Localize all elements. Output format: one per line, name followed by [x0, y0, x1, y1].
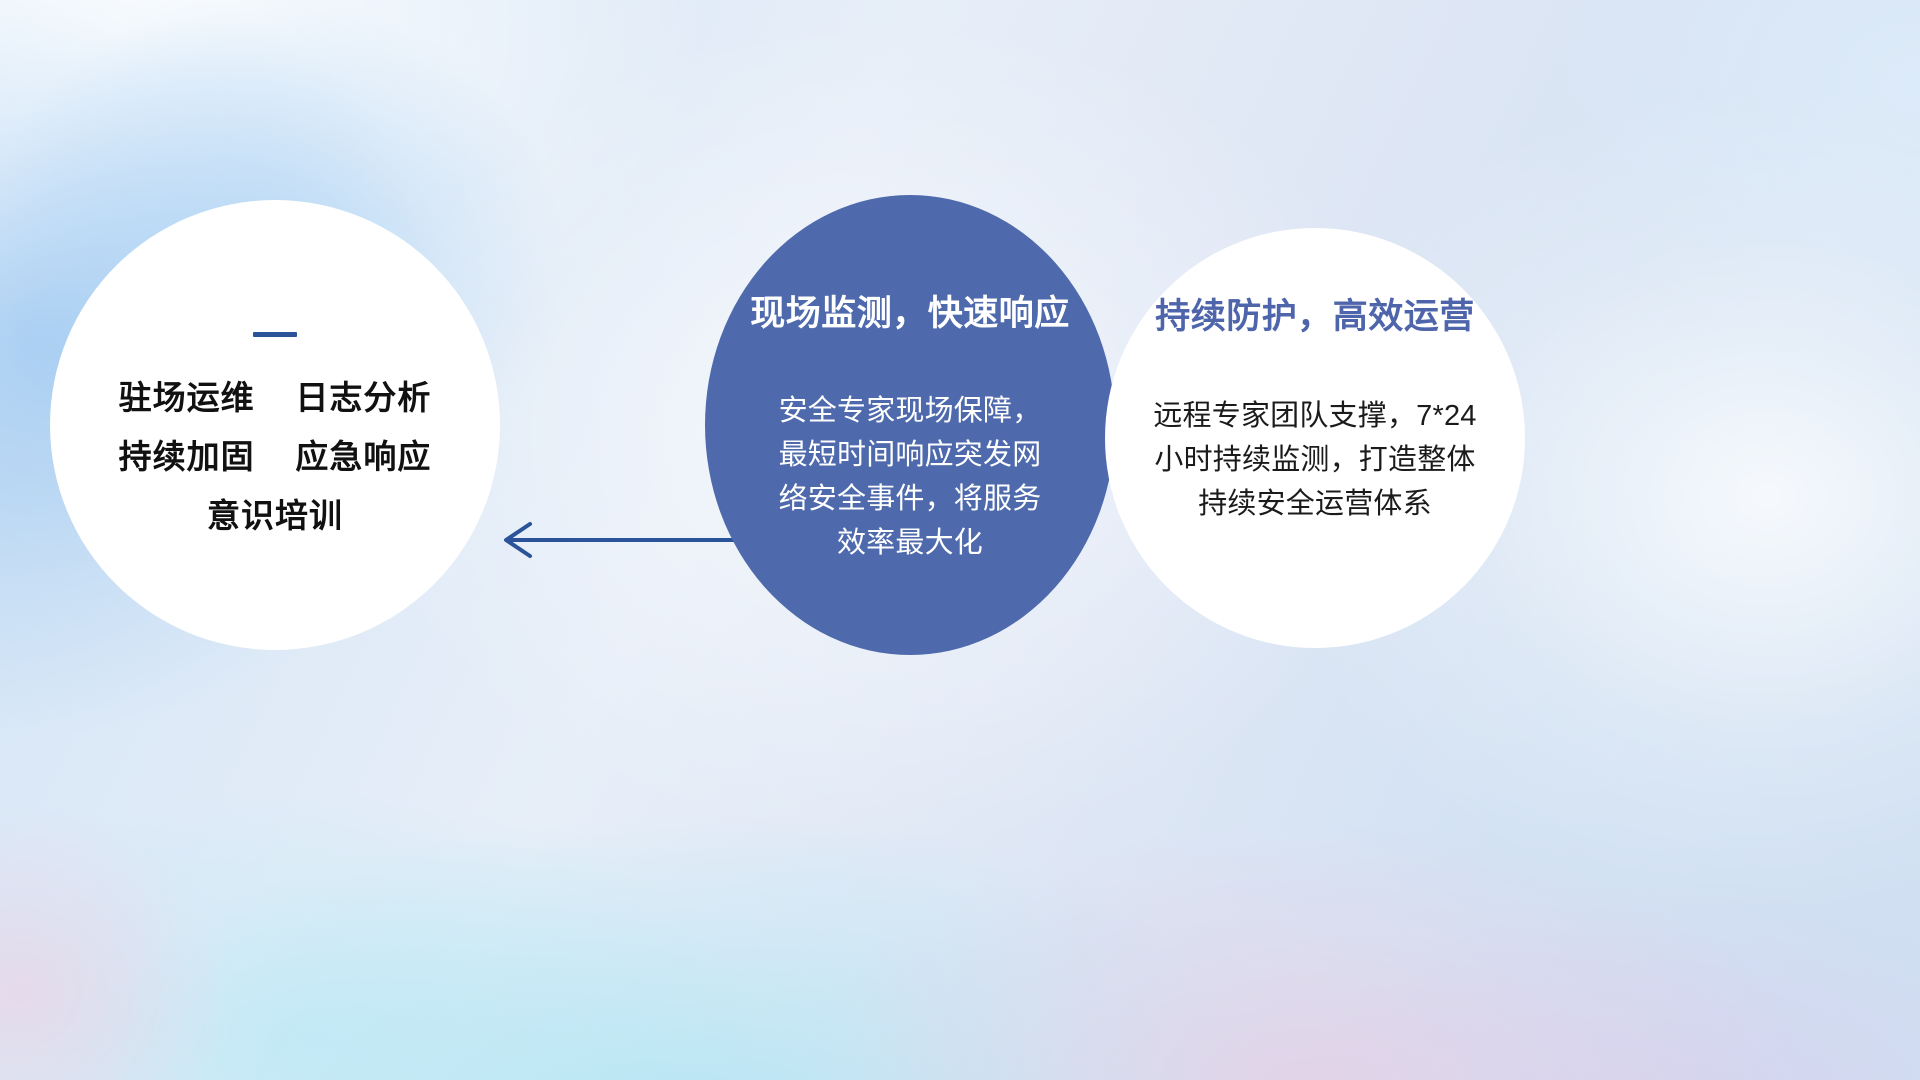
right-continuous-protection-circle: 持续防护，高效运营 远程专家团队支撑，7*24 小时持续监测，打造整体 持续安全…	[1105, 228, 1525, 648]
body-line: 络安全事件，将服务	[745, 477, 1075, 521]
middle-onsite-monitoring-circle: 现场监测，快速响应 安全专家现场保障， 最短时间响应突发网 络安全事件，将服务 …	[705, 195, 1115, 655]
list-item: 驻场运维 日志分析	[119, 381, 432, 414]
body-line: 小时持续监测，打造整体	[1135, 438, 1495, 482]
left-capability-circle: 驻场运维 日志分析 持续加固 应急响应 意识培训	[50, 200, 500, 650]
middle-circle-title: 现场监测，快速响应	[750, 293, 1070, 335]
body-line: 远程专家团队支撑，7*24	[1135, 394, 1495, 438]
body-line: 效率最大化	[745, 521, 1075, 565]
left-capability-list: 驻场运维 日志分析 持续加固 应急响应 意识培训	[50, 381, 500, 532]
slide-canvas: 驻场运维 日志分析 持续加固 应急响应 意识培训 现场监测，快速响应 安全专家现…	[0, 0, 1920, 1080]
body-line: 安全专家现场保障，	[745, 389, 1075, 433]
list-item: 意识培训	[207, 499, 343, 532]
right-circle-body: 远程专家团队支撑，7*24 小时持续监测，打造整体 持续安全运营体系	[1135, 394, 1495, 526]
right-circle-title: 持续防护，高效运营	[1155, 296, 1475, 338]
divider-dash-icon	[253, 332, 297, 337]
body-line: 最短时间响应突发网	[745, 433, 1075, 477]
body-line: 持续安全运营体系	[1135, 482, 1495, 526]
list-item: 持续加固 应急响应	[119, 440, 432, 473]
middle-circle-body: 安全专家现场保障， 最短时间响应突发网 络安全事件，将服务 效率最大化	[745, 389, 1075, 565]
